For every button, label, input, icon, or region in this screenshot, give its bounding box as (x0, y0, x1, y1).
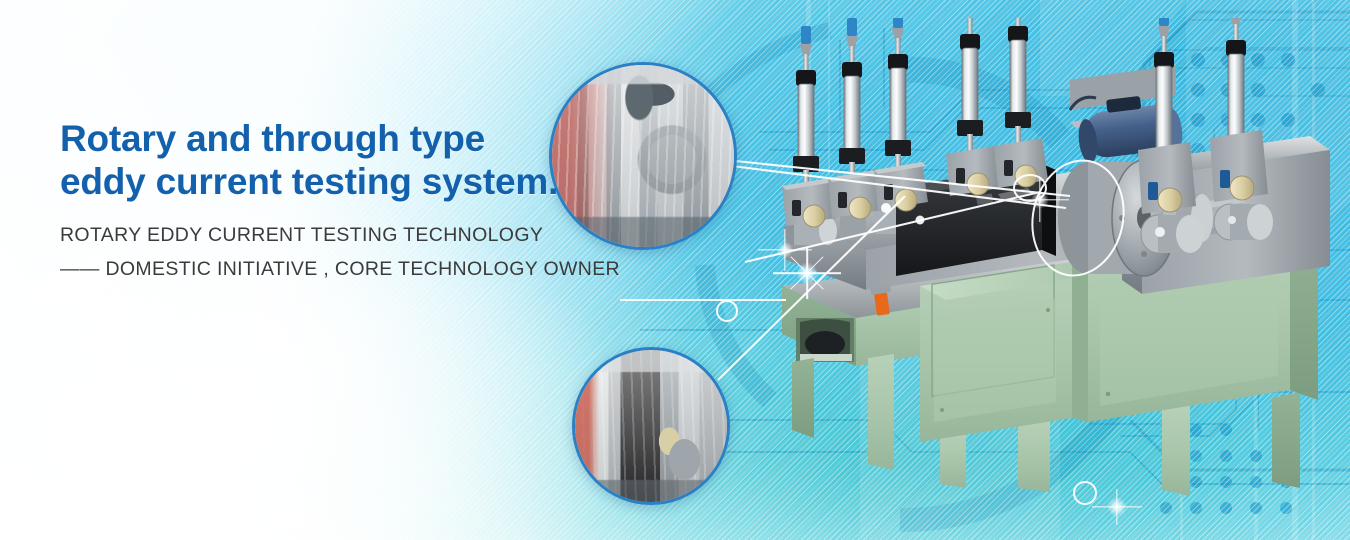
headline-block: Rotary and through type eddy current tes… (60, 118, 620, 284)
headline-line-2: eddy current testing system. (60, 161, 620, 204)
through-type-coil-unit-closeup (575, 350, 727, 502)
subtitle-block: ROTARY EDDY CURRENT TESTING TECHNOLOGY —… (60, 220, 620, 284)
inset-photo-through-coil[interactable] (572, 347, 730, 505)
subtitle-line-2: —— DOMESTIC INITIATIVE , CORE TECHNOLOGY… (60, 254, 620, 284)
subtitle-line-1: ROTARY EDDY CURRENT TESTING TECHNOLOGY (60, 220, 620, 250)
hero-banner: Rotary and through type eddy current tes… (0, 0, 1350, 540)
headline-line-1: Rotary and through type (60, 118, 485, 159)
page-title: Rotary and through type eddy current tes… (60, 118, 620, 204)
